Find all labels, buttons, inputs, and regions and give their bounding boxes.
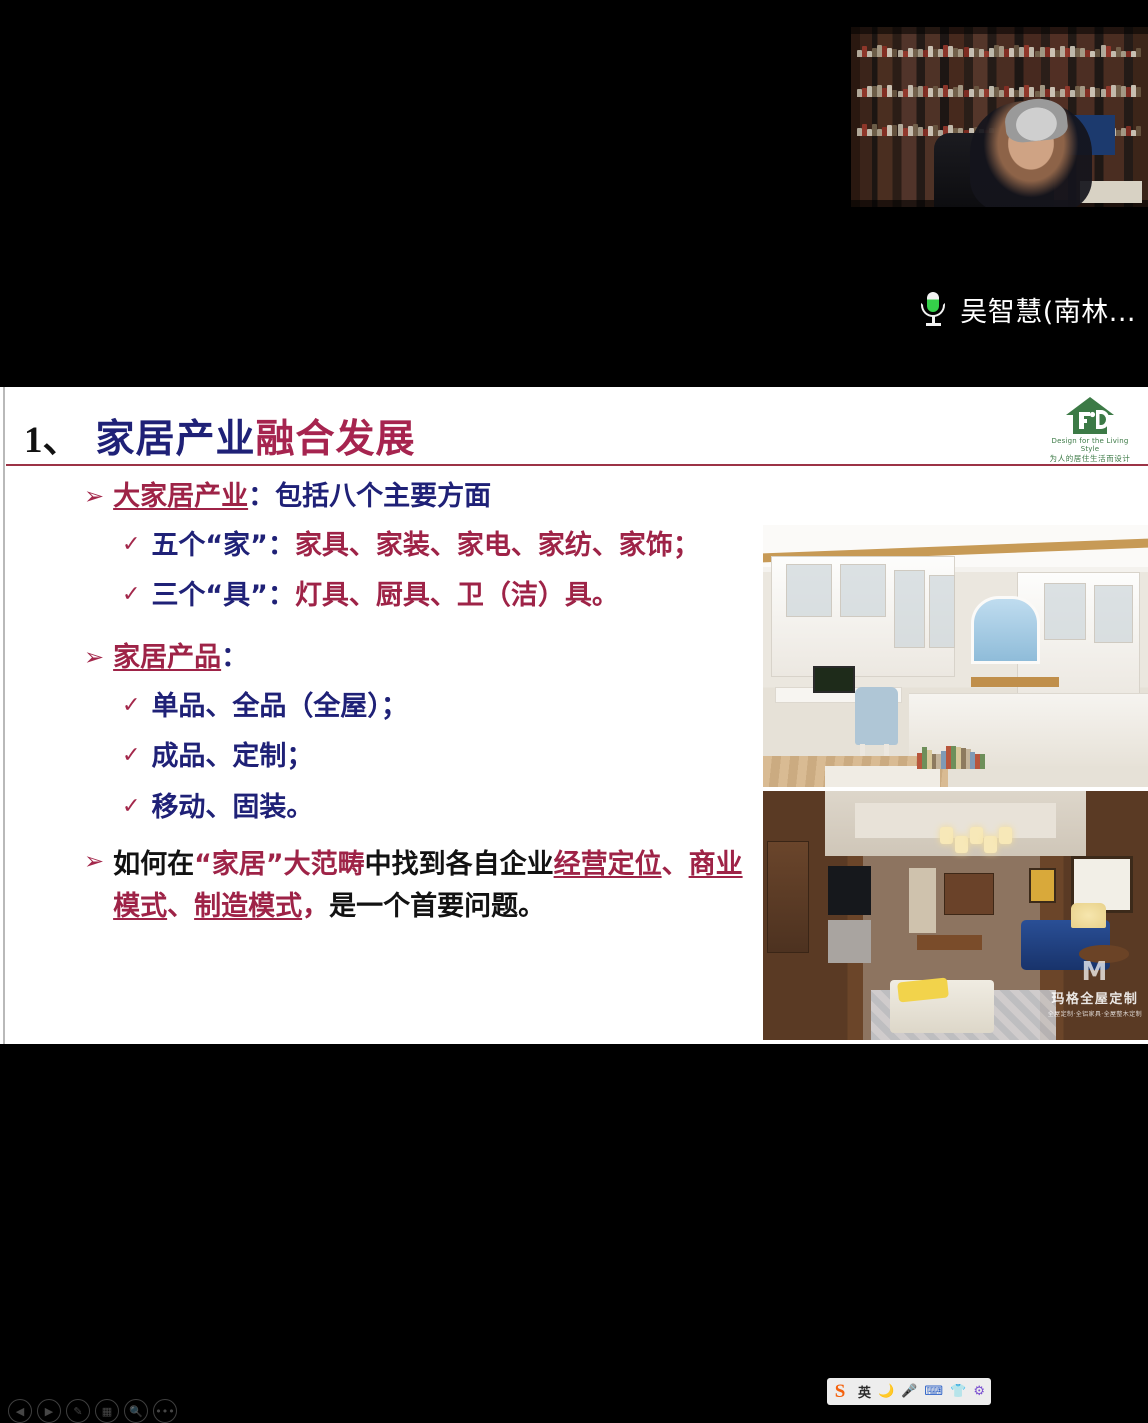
sub-bullet-item: ✓ 移动、固装。 — [122, 790, 760, 826]
logo-tagline-cn: 为人的居住生活而设计 — [1042, 453, 1138, 464]
house-fd-icon — [1064, 396, 1116, 436]
bookshelf-row — [857, 85, 1142, 97]
slide-body: ➢ 大家居产业：包括八个主要方面 ✓ 五个“家”：家具、家装、家电、家纺、家饰；… — [0, 479, 760, 928]
bullet-text-accent: 大家居产业 — [113, 481, 248, 512]
closing-seg-accent: “家居”大范畴 — [194, 849, 365, 880]
sub-bullet-text: 单品、全品（全屋）； — [151, 689, 408, 725]
title-number: 1、 — [24, 409, 80, 463]
pen-tool-button[interactable]: ✎ — [66, 1399, 90, 1423]
arrow-bullet-icon: ➢ — [84, 479, 104, 514]
arrow-bullet-icon: ➢ — [84, 640, 104, 675]
bullet-text-accent: 家居产品 — [113, 642, 221, 673]
title-divider — [6, 464, 1148, 466]
watermark-subtitle: 全屋定制·全铝家具·全屋整木定制 — [1048, 1009, 1142, 1018]
framed-artwork — [1029, 868, 1056, 903]
bookshelf-row — [857, 45, 1142, 57]
closing-seg: 是一个首要问题。 — [329, 891, 545, 922]
coffee-table — [917, 935, 982, 950]
check-bullet-icon: ✓ — [122, 739, 140, 772]
closing-seg-accent: ， — [302, 891, 329, 922]
brand-watermark: M 玛格全屋定制 全屋定制·全铝家具·全屋整木定制 — [1048, 959, 1142, 1018]
table-lamp — [1071, 903, 1106, 928]
slide-grid-button[interactable]: ▦ — [95, 1399, 119, 1423]
slideshow-controls: ◀ ▶ ✎ ▦ 🔍 ••• — [8, 1399, 177, 1423]
moon-icon[interactable]: 🌙 — [878, 1384, 894, 1399]
video-conference-area: 吴智慧(南林... — [0, 0, 1148, 387]
speaker-name-label: 吴智慧(南林... — [960, 290, 1136, 329]
watermark-monogram: M — [1048, 959, 1142, 985]
check-bullet-icon: ✓ — [122, 689, 140, 722]
prev-slide-button[interactable]: ◀ — [8, 1399, 32, 1423]
next-slide-button[interactable]: ▶ — [37, 1399, 61, 1423]
logo-tagline-en: Design for the Living Style — [1042, 437, 1138, 453]
closing-seg: 中找到各自企业 — [365, 849, 554, 880]
wood-table — [971, 677, 1060, 687]
microphone-icon[interactable] — [920, 292, 946, 326]
closing-seg: 如何在 — [113, 849, 194, 880]
presentation-slide: 1、 家居产业 融合发展 Design for the Living Style… — [0, 387, 1148, 1044]
white-study-room-photo — [763, 525, 1148, 787]
bullet-text: ：包括八个主要方面 — [248, 481, 491, 512]
bullet-item: ➢ 大家居产业：包括八个主要方面 — [84, 479, 760, 515]
check-bullet-icon: ✓ — [122, 790, 140, 823]
toolbox-icon[interactable]: ⚙ — [973, 1384, 985, 1399]
closing-seg-link: 经营定位 — [554, 849, 662, 880]
doorway — [909, 868, 936, 933]
participant-video-tile[interactable] — [851, 27, 1148, 207]
sub-bullet-text-accent: 家具、家装、家电、家纺、家饰； — [295, 530, 700, 561]
speaker-indicator: 吴智慧(南林... — [920, 287, 1136, 331]
watermark-brand-name: 玛格全屋定制 — [1048, 988, 1142, 1007]
sub-bullet-item: ✓ 单品、全品（全屋）； — [122, 689, 760, 725]
sub-bullet-text: 五个“家”： — [151, 530, 295, 561]
closing-statement: ➢ 如何在“家居”大范畴中找到各自企业经营定位、商业模式、制造模式，是一个首要问… — [84, 844, 760, 928]
sogou-ime-toolbar[interactable]: S 英 🌙 🎤 ⌨ 👕 ⚙ — [827, 1378, 991, 1405]
arched-window — [971, 596, 1040, 664]
blue-chair — [855, 687, 897, 745]
arrow-bullet-icon: ➢ — [84, 844, 104, 879]
closing-seg-accent: 、 — [662, 849, 689, 880]
closing-seg-accent: 、 — [167, 891, 194, 922]
rug — [825, 766, 941, 787]
bullet-text: ： — [221, 642, 248, 673]
sub-bullet-item: ✓ 五个“家”：家具、家装、家电、家纺、家饰； — [122, 528, 760, 564]
voice-input-icon[interactable]: 🎤 — [901, 1384, 917, 1399]
more-options-button[interactable]: ••• — [153, 1399, 177, 1423]
chandelier — [940, 823, 1014, 857]
sub-bullet-text: 成品、定制； — [151, 739, 313, 775]
page-title: 1、 家居产业 融合发展 — [24, 408, 416, 464]
fireplace — [828, 920, 870, 962]
sub-bullet-text-accent: 灯具、厨具、卫（洁）具。 — [295, 580, 619, 611]
sub-bullet-item: ✓ 成品、定制； — [122, 739, 760, 775]
sogou-logo-icon[interactable]: S — [829, 1381, 851, 1403]
zoom-button[interactable]: 🔍 — [124, 1399, 148, 1423]
sub-bullet-text: 移动、固装。 — [151, 790, 313, 826]
laptop — [813, 666, 855, 692]
ime-language-toggle[interactable]: 英 — [858, 1382, 871, 1401]
american-living-room-photo: M 玛格全屋定制 全屋定制·全铝家具·全屋整木定制 — [763, 791, 1148, 1040]
television — [828, 866, 870, 916]
bullet-item: ➢ 家居产品： — [84, 640, 760, 676]
check-bullet-icon: ✓ — [122, 578, 140, 611]
keyboard-icon[interactable]: ⌨ — [924, 1384, 943, 1399]
sub-bullet-item: ✓ 三个“具”：灯具、厨具、卫（洁）具。 — [122, 578, 760, 614]
wood-cabinet — [944, 873, 994, 915]
check-bullet-icon: ✓ — [122, 528, 140, 561]
skin-icon[interactable]: 👕 — [950, 1384, 966, 1399]
title-part-primary: 家居产业 — [96, 408, 256, 464]
wood-bookshelf — [767, 841, 809, 953]
title-part-accent: 融合发展 — [256, 408, 416, 464]
fd-brand-logo: Design for the Living Style 为人的居住生活而设计 — [1042, 396, 1138, 460]
closing-seg-link: 制造模式 — [194, 891, 302, 922]
sub-bullet-text: 三个“具”： — [151, 580, 295, 611]
book-row — [917, 745, 986, 769]
